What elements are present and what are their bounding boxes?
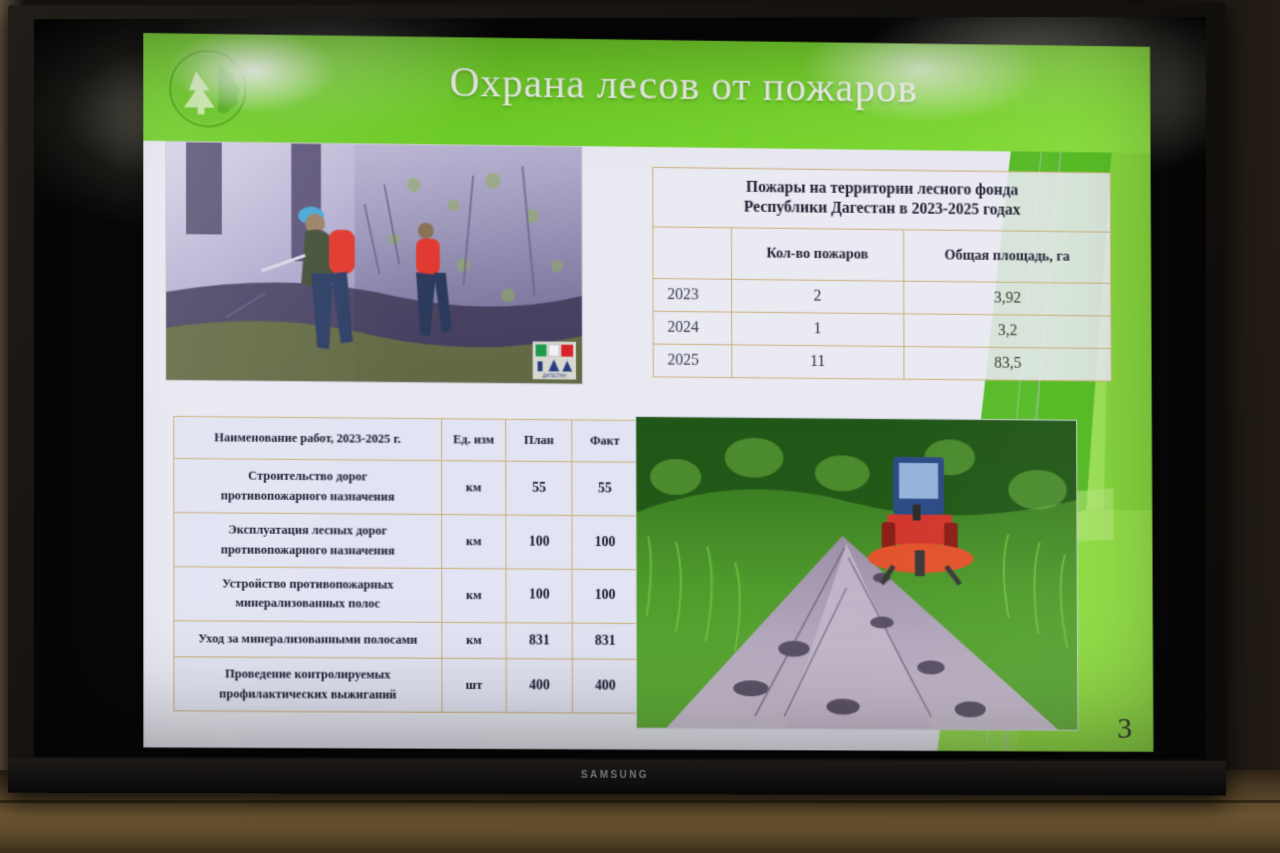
fires-table: Пожары на территории лесного фонда Респу… <box>652 167 1112 382</box>
works-name-line-1: Уход за минерализованными полосами <box>184 629 431 650</box>
works-row-name: Проведение контролируемых профилактическ… <box>174 657 442 712</box>
works-name-line-2: противопожарного назначения <box>184 540 431 561</box>
table-row: 2025 11 83,5 <box>653 344 1111 381</box>
fires-col-count: Кол-во пожаров <box>731 228 903 281</box>
works-name-line-2: минерализованных полос <box>184 593 431 614</box>
works-row-fact: 400 <box>572 659 638 713</box>
works-name-line-1: Строительство дорог <box>184 466 431 487</box>
fires-row-count: 11 <box>731 345 903 379</box>
fires-table-title: Пожары на территории лесного фонда Респу… <box>653 167 1111 232</box>
table-row: Строительство дорог противопожарного наз… <box>174 459 638 516</box>
works-row-unit: шт <box>442 659 507 713</box>
works-col-fact: Факт <box>572 420 638 463</box>
presentation-slide-container: Охрана лесов от пожаров <box>143 33 1153 752</box>
works-col-plan: План <box>506 419 572 462</box>
fires-col-area: Общая площадь, га <box>903 230 1111 284</box>
works-row-name: Строительство дорог противопожарного наз… <box>174 459 442 515</box>
works-row-fact: 55 <box>572 462 638 516</box>
fires-table-title-row: Пожары на территории лесного фонда Респу… <box>653 167 1111 232</box>
fires-title-line-2: Республики Дагестан в 2023-2025 годах <box>663 197 1100 222</box>
works-row-unit: км <box>441 515 506 569</box>
works-row-fact: 100 <box>572 516 638 570</box>
works-row-plan: 55 <box>506 462 572 516</box>
dagestan-watermark-text: ДАГЕСТАН <box>543 374 567 379</box>
works-name-line-1: Устройство противопожарных <box>184 574 431 595</box>
fires-row-year: 2024 <box>653 311 731 345</box>
fires-table-header-row: Кол-во пожаров Общая площадь, га <box>653 227 1111 283</box>
samsung-logo: SAMSUNG <box>581 769 649 780</box>
works-row-plan: 400 <box>506 659 572 713</box>
tv-bottom-bezel: SAMSUNG <box>8 759 1226 796</box>
fires-row-count: 1 <box>731 312 903 346</box>
works-row-name: Эксплуатация лесных дорог противопожарно… <box>174 513 442 569</box>
works-name-line-2: противопожарного назначения <box>184 486 431 507</box>
works-table-header-row: Наименование работ, 2023-2025 г. Ед. изм… <box>174 416 638 462</box>
works-row-unit: км <box>441 461 506 515</box>
works-row-plan: 831 <box>506 622 572 659</box>
works-col-unit: Ед. изм <box>441 419 506 462</box>
firefighters-photo: ДАГЕСТАН <box>165 141 583 385</box>
fires-row-year: 2025 <box>653 344 731 378</box>
works-name-line-1: Эксплуатация лесных дорог <box>184 520 431 541</box>
works-row-fact: 100 <box>572 569 638 623</box>
works-row-unit: км <box>441 568 506 622</box>
table-row: 2023 2 3,92 <box>653 278 1111 315</box>
fires-col-empty <box>653 227 731 279</box>
works-row-plan: 100 <box>506 515 572 569</box>
table-row: 2024 1 3,2 <box>653 311 1111 348</box>
works-name-line-1: Проведение контролируемых <box>184 665 431 686</box>
fires-row-area: 3,92 <box>903 281 1111 316</box>
fires-row-count: 2 <box>731 279 903 313</box>
fires-row-area: 3,2 <box>904 314 1112 349</box>
tractor-photo <box>635 416 1078 731</box>
dagestan-watermark: ДАГЕСТАН <box>533 341 576 379</box>
works-name-line-2: профилактических выжиганий <box>184 684 431 705</box>
slide-number: 3 <box>1117 712 1132 746</box>
works-table: Наименование работ, 2023-2025 г. Ед. изм… <box>173 416 639 714</box>
works-row-name: Устройство противопожарных минерализован… <box>174 566 442 621</box>
table-row: Проведение контролируемых профилактическ… <box>174 657 639 713</box>
works-row-plan: 100 <box>506 569 572 623</box>
works-row-fact: 831 <box>572 623 638 660</box>
table-row: Устройство противопожарных минерализован… <box>174 566 638 623</box>
tv-screen: Охрана лесов от пожаров <box>34 17 1206 759</box>
fires-row-area: 83,5 <box>904 346 1112 381</box>
table-row: Эксплуатация лесных дорог противопожарно… <box>174 513 638 570</box>
television: Охрана лесов от пожаров <box>8 3 1226 796</box>
works-col-name: Наименование работ, 2023-2025 г. <box>174 416 442 461</box>
table-row: Уход за минерализованными полосами км 83… <box>174 620 638 659</box>
fires-row-year: 2023 <box>653 278 731 312</box>
presentation-slide: Охрана лесов от пожаров <box>143 33 1153 752</box>
works-row-name: Уход за минерализованными полосами <box>174 620 442 658</box>
works-row-unit: км <box>442 622 507 659</box>
